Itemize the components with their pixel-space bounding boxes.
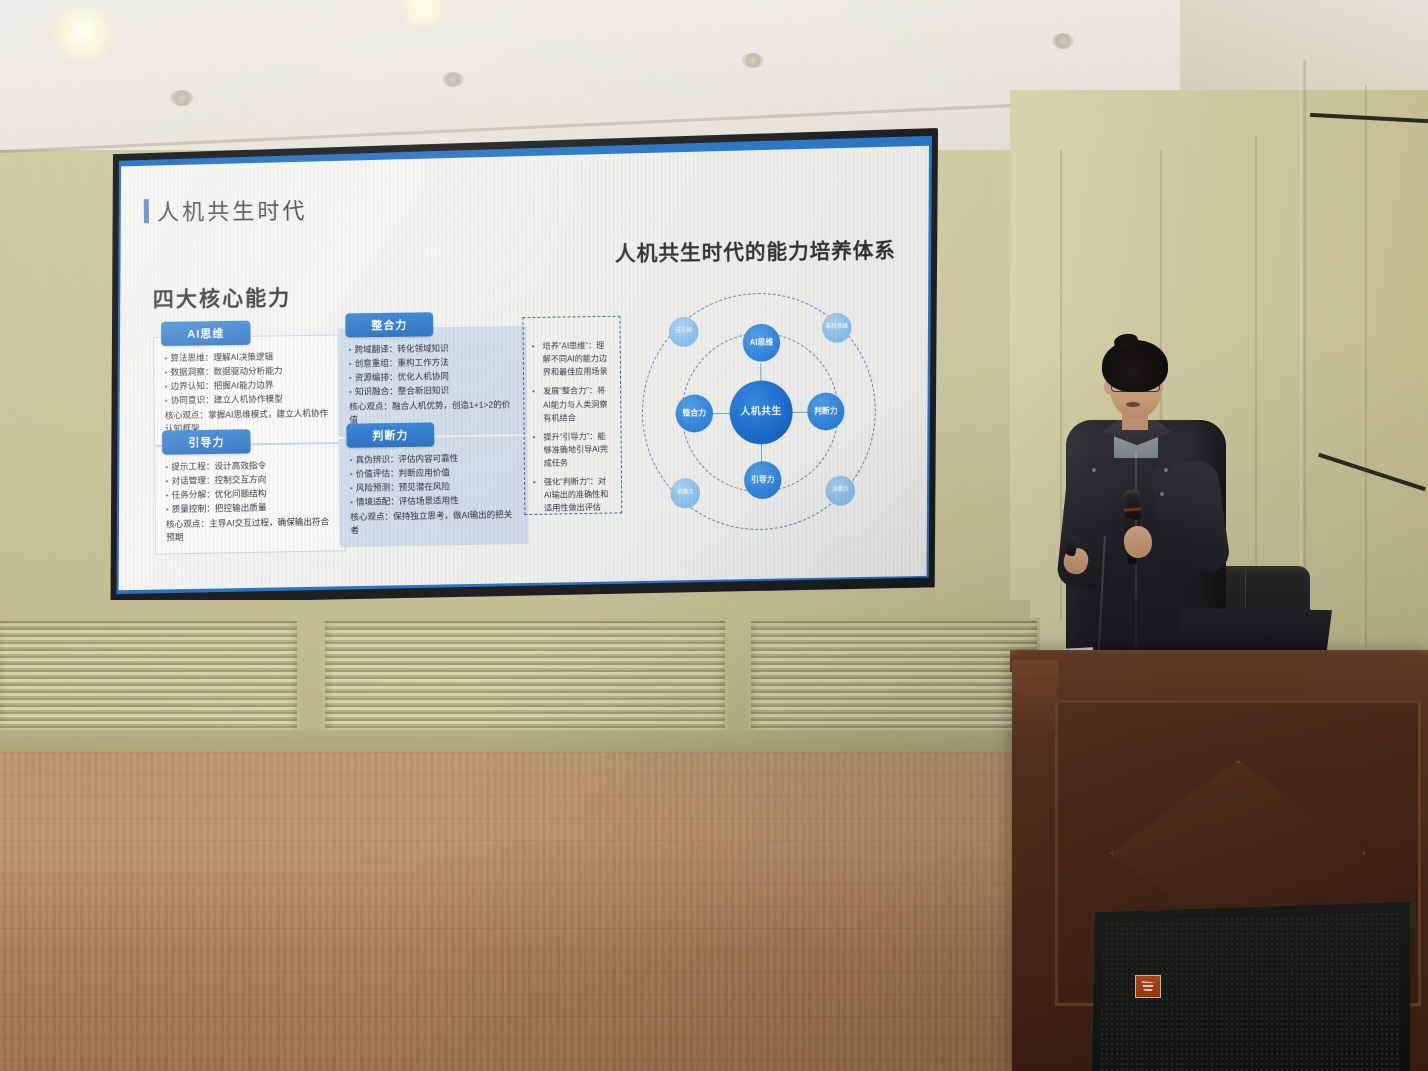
summary-item: 发展“整合力”：将AI能力与人类洞察有机结合 <box>532 384 612 425</box>
section-title: 四大核心能力 <box>153 282 292 314</box>
lecture-hall-scene: 人机共生时代 人机共生时代的能力培养体系 四大核心能力 AI思维 算法思维：理解… <box>0 0 1428 1071</box>
ceiling-light-6 <box>1052 33 1074 49</box>
summary-item: 培养“AI思维”：理解不同AI的能力边界和最佳应用场景 <box>532 339 612 379</box>
diagram-outer-node-decision[interactable]: 决策力 <box>826 476 856 506</box>
card-title: 引导力 <box>162 429 251 455</box>
wall-vent-panel-3 <box>748 618 1040 736</box>
capability-card-judgment: 判断力 真伪辨识：评估内容可靠性 价值评估：判断应用价值 风险预测：预见潜在风险… <box>338 421 528 548</box>
slide-content: 人机共生时代 人机共生时代的能力培养体系 四大核心能力 AI思维 算法思维：理解… <box>117 143 926 593</box>
jacket-snap-3 <box>1092 468 1096 472</box>
card-core-point: 核心观点：主导AI交互过程，确保输出符合预期 <box>166 515 336 545</box>
ceiling-light-4 <box>442 72 464 87</box>
card-body: 真伪辨识：评估内容可靠性 价值评估：判断应用价值 风险预测：预见潜在风险 情境适… <box>339 436 529 548</box>
loudspeaker-logo-badge <box>1135 975 1161 998</box>
card-bullet: 知识融合：整合新旧知识 <box>349 383 517 399</box>
card-title: AI思维 <box>161 321 251 346</box>
podium-side-block <box>1012 660 1058 750</box>
slide-header: 人机共生时代 <box>144 193 308 227</box>
summary-dashed-box: 培养“AI思维”：理解不同AI的能力边界和最佳应用场景 发展“整合力”：将AI能… <box>522 316 622 515</box>
header-accent-bar <box>144 199 149 223</box>
mouth <box>1126 402 1140 407</box>
brand-mark-icon <box>1142 981 1154 992</box>
card-bullet: 协同意识：建立人机协作模型 <box>165 392 335 409</box>
card-body: 提示工程：设计高效指令 对话管理：控制交互方向 任务分解：优化问题结构 质量控制… <box>154 443 345 555</box>
slide-subtitle: 人机共生时代的能力培养体系 <box>615 235 896 268</box>
wall-seam-c <box>1255 135 1257 635</box>
capability-card-integration: 整合力 跨域翻译：转化领域知识 创意重组：重构工作方法 资源编排：优化人机协同 … <box>337 311 527 437</box>
summary-item: 强化“判断力”：对AI输出的准确性和适用性做出评估 <box>533 475 613 516</box>
card-core-point: 核心观点：保持独立思考，做AI输出的把关者 <box>350 508 518 538</box>
projection-screen[interactable]: 人机共生时代 人机共生时代的能力培养体系 四大核心能力 AI思维 算法思维：理解… <box>117 143 929 593</box>
wall-seam-d <box>1365 85 1367 645</box>
card-title: 整合力 <box>345 312 433 337</box>
microphone-head[interactable] <box>1123 489 1143 520</box>
jacket-snap-2 <box>1160 492 1164 496</box>
jacket-snap-1 <box>1164 468 1168 472</box>
card-title: 判断力 <box>346 422 434 447</box>
wall-vent-panel-1 <box>0 618 300 736</box>
header-title: 人机共生时代 <box>157 193 308 227</box>
summary-item: 提升“引导力”：能够准确地引导AI完成任务 <box>532 429 612 470</box>
hair <box>1102 340 1168 392</box>
ceiling-light-3 <box>170 90 194 106</box>
card-bullet: 质量控制：把控输出质量 <box>166 500 336 517</box>
ceiling-light-5 <box>742 53 764 68</box>
ceiling-light-1 <box>44 6 122 60</box>
capability-card-guidance: 引导力 提示工程：设计高效指令 对话管理：控制交互方向 任务分解：优化问题结构 … <box>154 428 346 555</box>
wall-vent-panel-2 <box>322 618 728 736</box>
card-bullet: 情境适配：评估场景适用性 <box>350 493 518 510</box>
capability-diagram: 人机共生 AI思维 判断力 引导力 整合力 元认知 系统思维 决策力 创造力 <box>637 287 885 539</box>
